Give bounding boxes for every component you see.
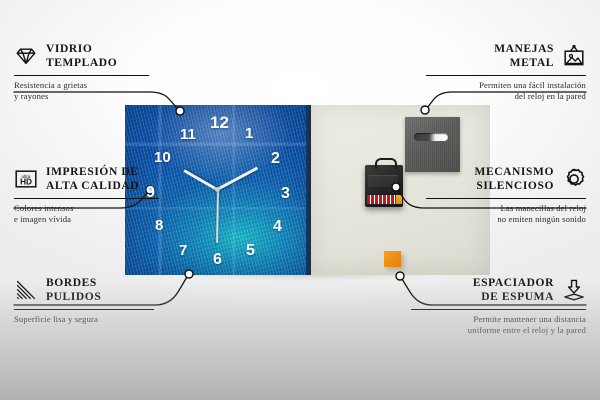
mechanism-body-detail [368,175,398,187]
callout-rule [14,75,149,76]
callout-desc-line2: uniforme entre el reloj y la pared [411,325,586,336]
clock-numeral-2: 2 [271,151,280,167]
clock-hour-hand [183,169,217,191]
callout-desc-line1: Superficie lisa y segura [14,314,154,325]
clock-face: 12 1 2 3 4 5 6 7 8 9 10 11 [125,105,310,275]
callout-header: ESPACIADOR DE ESPUMA [411,276,586,305]
gear-icon [562,167,586,191]
callout-title: VIDRIO TEMPLADO [46,42,117,71]
clock-numeral-1: 1 [245,126,253,141]
callout-rule [411,309,586,310]
callout-title: BORDES PULIDOS [46,276,101,305]
clock-second-hand [216,189,219,243]
callout-header: BORDES PULIDOS [14,276,154,305]
callout-rule [14,198,159,199]
callout-header: MANEJAS METAL [426,42,586,71]
callout-espaciador-espuma: ESPACIADOR DE ESPUMA Permite mantener un… [411,276,586,337]
clock-minute-hand [216,167,258,191]
polished-edge-icon [14,278,38,302]
callout-header: VIDRIO TEMPLADO [14,42,149,71]
callout-desc-line2: y rayones [14,91,149,102]
clock-numeral-6: 6 [213,252,222,268]
mechanism-hook [375,158,397,169]
hanger-slot [414,133,448,141]
callout-header: MECANISMO SILENCIOSO [426,165,586,194]
clock-center-pin [215,187,220,192]
clock-numeral-12: 12 [210,114,229,131]
diamond-icon [14,44,38,68]
callout-title: ESPACIADOR DE ESPUMA [473,276,554,305]
foam-spacer-icon [562,278,586,302]
picture-hanger-icon [562,44,586,68]
foam-spacer-pad [384,251,401,267]
clock-numeral-3: 3 [281,186,290,202]
callout-desc-line1: Resistencia a grietas [14,80,149,91]
clock-numeral-7: 7 [179,243,187,258]
clock-numeral-8: 8 [155,218,163,233]
callout-desc-line2: no emiten ningún sonido [426,214,586,225]
callout-rule [426,198,586,199]
clock-numeral-11: 11 [180,127,196,142]
callout-desc-line2: e imagen vívida [14,214,159,225]
callout-title: MANEJAS METAL [494,42,554,71]
ultra-hd-icon: ultra HD [14,167,38,191]
callout-desc-line1: Las manecillas del reloj [426,203,586,214]
clock-numeral-9: 9 [146,185,155,201]
clock-numeral-10: 10 [154,150,171,165]
quartz-mechanism [365,165,403,207]
callout-title: MECANISMO SILENCIOSO [474,165,554,194]
hanger-plate [405,117,460,172]
callout-rule [14,309,154,310]
callout-desc-line1: Permiten una fácil instalación [426,80,586,91]
callout-title: IMPRESIÓN DE ALTA CALIDAD [46,165,139,194]
callout-manejas-metal: MANEJAS METAL Permiten una fácil instala… [426,42,586,103]
infographic-canvas: 12 1 2 3 4 5 6 7 8 9 10 11 [0,0,600,400]
callout-desc-line1: Permite mantener una distancia [411,314,586,325]
callout-header: ultra HD IMPRESIÓN DE ALTA CALIDAD [14,165,159,194]
callout-desc-line2: del reloj en la pared [426,91,586,102]
clock-numeral-4: 4 [273,219,282,235]
callout-rule [426,75,586,76]
clock-numeral-5: 5 [246,243,255,259]
svg-text:HD: HD [20,178,32,187]
callout-vidrio-templado: VIDRIO TEMPLADO Resistencia a grietas y … [14,42,149,103]
mechanism-label-tag [396,195,402,204]
callout-mecanismo-silencioso: MECANISMO SILENCIOSO Las manecillas del … [426,165,586,226]
callout-desc-line1: Colores intensos [14,203,159,214]
callout-bordes-pulidos: BORDES PULIDOS Superficie lisa y segura [14,276,154,325]
callout-impresion-alta-calidad: ultra HD IMPRESIÓN DE ALTA CALIDAD Color… [14,165,159,226]
clock-side-edge [306,105,311,275]
